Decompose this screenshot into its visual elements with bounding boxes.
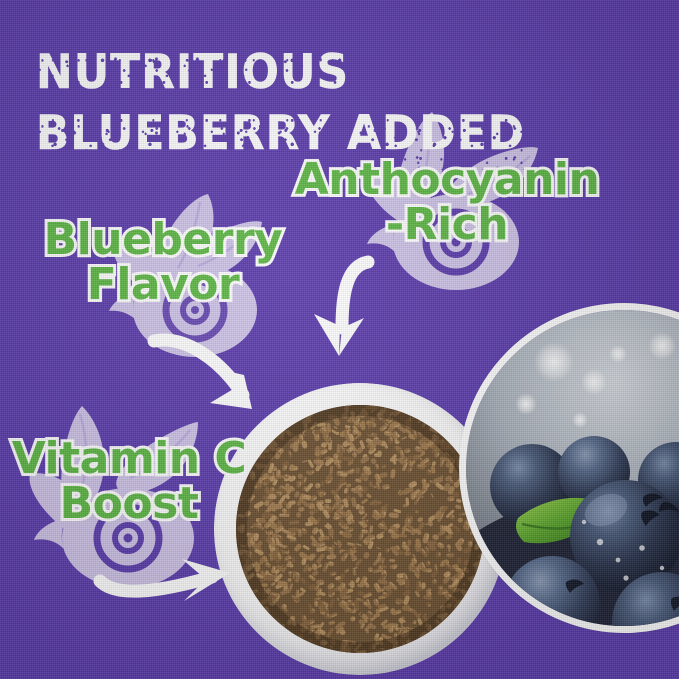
kibble-fill bbox=[236, 405, 484, 653]
kibble-bowl bbox=[214, 383, 506, 675]
page-title: NUTRITIOUS BLUEBERRY ADDED bbox=[36, 42, 613, 164]
blueberry-photo-circle bbox=[459, 303, 679, 633]
callout-vitamin-c-boost: Vitamin C Boost bbox=[4, 437, 254, 527]
arrow-to-bowl-upper bbox=[140, 325, 270, 430]
callout-anthocyanin-rich: Anthocyanin -Rich bbox=[282, 158, 612, 248]
arrow-to-bowl-center bbox=[306, 252, 416, 370]
page-title-text: NUTRITIOUS BLUEBERRY ADDED bbox=[36, 45, 525, 161]
poster-canvas: NUTRITIOUS BLUEBERRY ADDED Blueberry Fla… bbox=[0, 0, 679, 679]
callout-blueberry-flavor: Blueberry Flavor bbox=[34, 218, 292, 308]
